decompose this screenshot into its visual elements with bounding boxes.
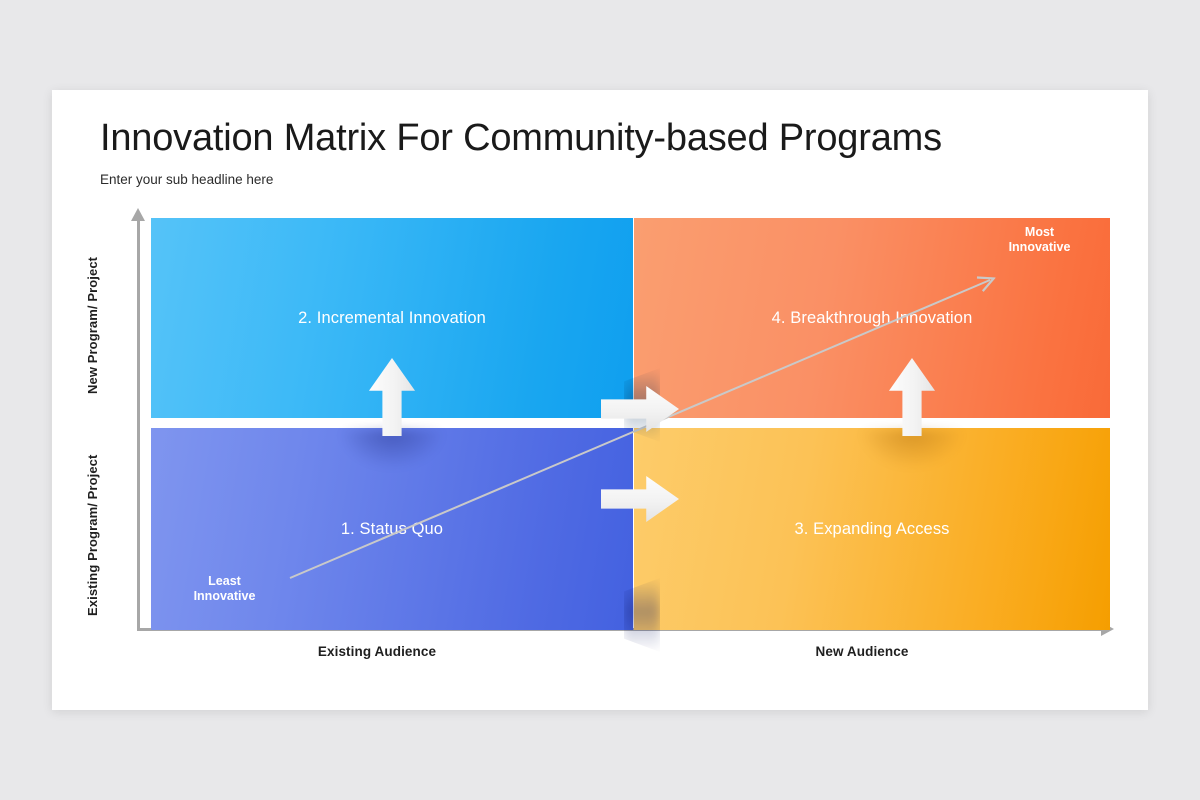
arrow-right-icon (601, 385, 679, 433)
arrow-right-glyph (601, 385, 679, 433)
arrow-up-icon (368, 358, 416, 436)
quadrant-label: 4. Breakthrough Innovation (772, 309, 973, 328)
arrow-right-icon (601, 475, 679, 523)
x-axis-label-new-audience: New Audience (712, 644, 1012, 659)
slide-card: Innovation Matrix For Community-based Pr… (52, 90, 1148, 710)
annotation-least-innovative: Least Innovative (162, 574, 287, 604)
quadrant-label: 3. Expanding Access (794, 520, 949, 539)
arrow-right-glyph (601, 475, 679, 523)
arrow-up-glyph (888, 358, 936, 436)
y-axis-line (137, 218, 140, 630)
arrow-up-glyph (368, 358, 416, 436)
x-axis-label-existing-audience: Existing Audience (227, 644, 527, 659)
y-axis-label-new-program: New Program/ Project (86, 230, 101, 420)
annotation-most-innovative: Most Innovative (977, 225, 1102, 255)
innovation-matrix: New Program/ Project Existing Program/ P… (52, 90, 1148, 710)
arrow-up-icon (888, 358, 936, 436)
y-axis-arrow-icon (131, 208, 145, 221)
y-axis-label-existing-program: Existing Program/ Project (86, 440, 101, 630)
quadrant-label: 1. Status Quo (341, 520, 443, 539)
quadrant-label: 2. Incremental Innovation (298, 309, 486, 328)
